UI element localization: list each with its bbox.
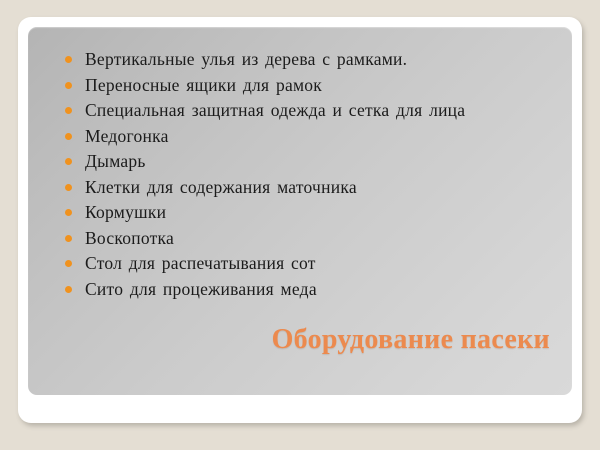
- list-item: Воскопотка: [61, 226, 561, 252]
- orange-dot-bullet-icon: [65, 184, 72, 191]
- list-item: Вертикальные улья из дерева с рамками.: [61, 47, 561, 73]
- list-item-label: Воскопотка: [85, 228, 174, 248]
- equipment-bullet-list: Вертикальные улья из дерева с рамками. П…: [61, 47, 561, 302]
- list-item: Клетки для содержания маточника: [61, 175, 561, 201]
- list-item-label: Специальная защитная одежда и сетка для …: [85, 100, 465, 120]
- list-item: Стол для распечатывания сот: [61, 251, 561, 277]
- orange-dot-bullet-icon: [65, 235, 72, 242]
- orange-dot-bullet-icon: [65, 56, 72, 63]
- list-item-label: Дымарь: [85, 151, 146, 171]
- list-item: Дымарь: [61, 149, 561, 175]
- orange-dot-bullet-icon: [65, 209, 72, 216]
- list-item-label: Стол для распечатывания сот: [85, 253, 316, 273]
- slide-title: Оборудование пасеки: [28, 324, 550, 356]
- list-item-label: Кормушки: [85, 202, 166, 222]
- list-item: Переносные ящики для рамок: [61, 73, 561, 99]
- orange-dot-bullet-icon: [65, 133, 72, 140]
- slide-card: Вертикальные улья из дерева с рамками. П…: [18, 17, 582, 423]
- list-item: Медогонка: [61, 124, 561, 150]
- list-item-label: Сито для процеживания меда: [85, 279, 317, 299]
- list-item: Сито для процеживания меда: [61, 277, 561, 303]
- orange-dot-bullet-icon: [65, 286, 72, 293]
- list-item: Кормушки: [61, 200, 561, 226]
- list-item-label: Медогонка: [85, 126, 169, 146]
- orange-dot-bullet-icon: [65, 107, 72, 114]
- slide-footer-strip: [18, 395, 582, 423]
- list-item-label: Переносные ящики для рамок: [85, 75, 322, 95]
- list-item: Специальная защитная одежда и сетка для …: [61, 98, 561, 124]
- orange-dot-bullet-icon: [65, 260, 72, 267]
- list-item-label: Вертикальные улья из дерева с рамками.: [85, 49, 407, 69]
- list-item-label: Клетки для содержания маточника: [85, 177, 357, 197]
- orange-dot-bullet-icon: [65, 158, 72, 165]
- orange-dot-bullet-icon: [65, 82, 72, 89]
- slide-content-panel: Вертикальные улья из дерева с рамками. П…: [28, 27, 572, 395]
- slide-canvas: Вертикальные улья из дерева с рамками. П…: [0, 0, 600, 450]
